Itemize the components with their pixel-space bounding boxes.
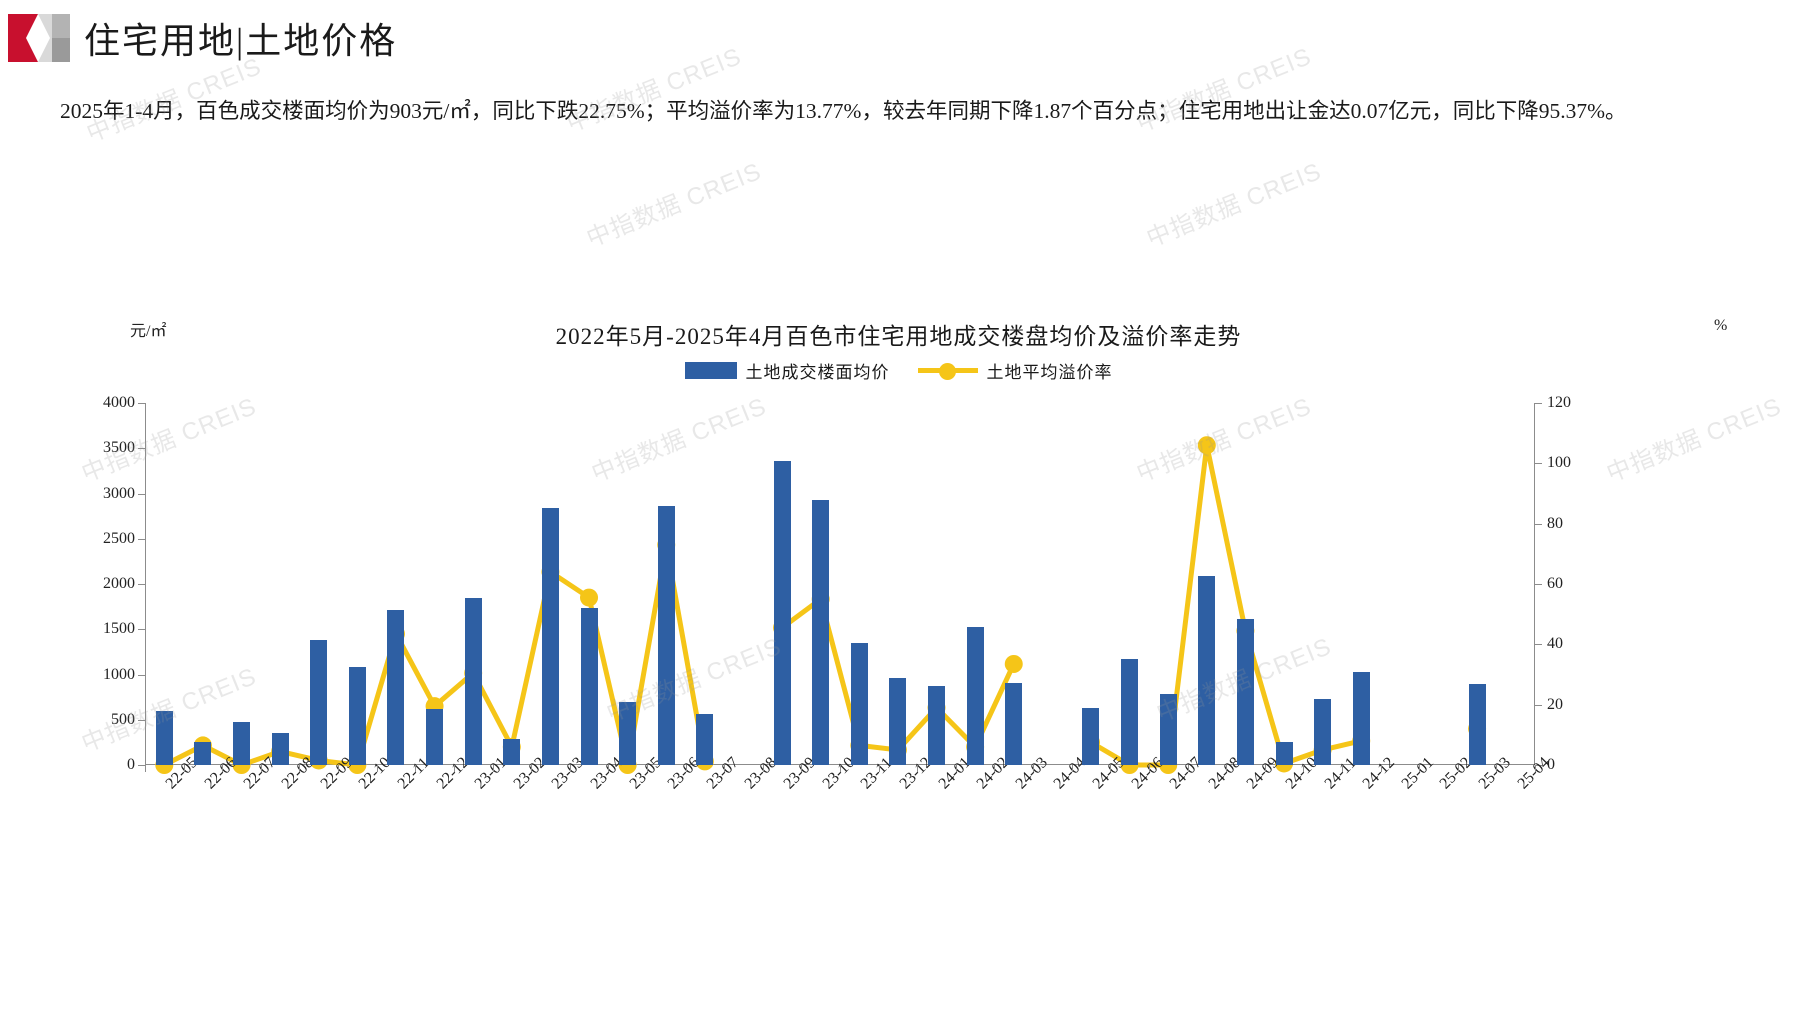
y2-axis-tick [1535, 524, 1542, 525]
bar[interactable] [349, 667, 366, 765]
y-axis-tick [138, 584, 145, 585]
y-axis-tick [138, 765, 145, 766]
legend-item-line[interactable]: 土地平均溢价率 [918, 358, 1113, 383]
x-axis-tick [415, 765, 416, 772]
watermark: 中指数据 CREIS [1140, 151, 1326, 253]
x-axis-tick [1535, 765, 1536, 772]
bar[interactable] [1005, 683, 1022, 765]
y2-axis-tick [1535, 403, 1542, 404]
y-axis-tick-label: 2500 [103, 530, 135, 548]
bar[interactable] [889, 678, 906, 765]
x-axis-tick [917, 765, 918, 772]
y-axis-tick-label: 4000 [103, 394, 135, 412]
line-marker[interactable] [1198, 436, 1216, 454]
bar[interactable] [1237, 619, 1254, 765]
y-axis-tick [138, 403, 145, 404]
watermark: 中指数据 CREIS [580, 151, 766, 253]
y2-axis-tick-label: 20 [1547, 696, 1563, 714]
x-axis-tick [1303, 765, 1304, 772]
x-axis-tick [493, 765, 494, 772]
bar[interactable] [465, 598, 482, 765]
y-axis-tick-label: 2000 [103, 575, 135, 593]
bar[interactable] [387, 610, 404, 765]
x-axis-tick [1226, 765, 1227, 772]
line-marker[interactable] [1005, 655, 1023, 673]
y-axis-tick [138, 448, 145, 449]
bar[interactable] [1314, 699, 1331, 765]
y-axis-tick-label: 1500 [103, 620, 135, 638]
y-axis-unit-label: 元/㎡ [130, 317, 166, 341]
line-marker[interactable] [580, 589, 598, 607]
x-axis-tick [299, 765, 300, 772]
x-axis-tick [1419, 765, 1420, 772]
bar[interactable] [812, 500, 829, 765]
x-axis-tick [801, 765, 802, 772]
x-axis-tick [1033, 765, 1034, 772]
y-axis-tick-label: 500 [111, 711, 135, 729]
page-title: 住宅用地|土地价格 [84, 12, 397, 64]
chart-title: 2022年5月-2025年4月百色市住宅用地成交楼盘均价及溢价率走势 [0, 317, 1797, 351]
bar[interactable] [696, 714, 713, 765]
x-axis-tick [145, 765, 146, 772]
y2-axis-tick-label: 120 [1547, 394, 1571, 412]
x-axis-tick [222, 765, 223, 772]
x-axis-tick [879, 765, 880, 772]
bar[interactable] [426, 709, 443, 765]
brand-logo-icon [8, 14, 70, 62]
legend-label-line: 土地平均溢价率 [987, 358, 1113, 383]
x-axis-tick [184, 765, 185, 772]
y-axis-tick [138, 539, 145, 540]
legend-item-bar[interactable]: 土地成交楼面均价 [685, 358, 890, 383]
y-axis-tick [138, 675, 145, 676]
x-axis-tick [956, 765, 957, 772]
x-axis-tick [724, 765, 725, 772]
y2-axis-tick-label: 80 [1547, 515, 1563, 533]
summary-text: 2025年1-4月，百色成交楼面均价为903元/㎡，同比下跌22.75%；平均溢… [60, 96, 1760, 127]
x-axis-tick [1265, 765, 1266, 772]
bar[interactable] [1469, 684, 1486, 765]
legend-bar-swatch [685, 362, 737, 379]
x-axis-tick [994, 765, 995, 772]
bar[interactable] [1198, 576, 1215, 765]
bar[interactable] [1121, 659, 1138, 765]
x-axis-tick [1496, 765, 1497, 772]
y-axis-tick-label: 0 [127, 756, 135, 774]
legend-label-bar: 土地成交楼面均价 [746, 358, 890, 383]
bar[interactable] [542, 508, 559, 765]
x-axis-tick [454, 765, 455, 772]
bar[interactable] [156, 711, 173, 765]
bar[interactable] [619, 702, 636, 765]
x-axis-tick [531, 765, 532, 772]
x-axis-tick [1110, 765, 1111, 772]
bar[interactable] [851, 643, 868, 765]
page-header: 住宅用地|土地价格 [0, 0, 1797, 78]
x-axis-tick [1458, 765, 1459, 772]
plot-area: 0500100015002000250030003500400002040608… [145, 403, 1535, 765]
legend-line-swatch [918, 361, 978, 379]
bar[interactable] [1276, 742, 1293, 765]
bar[interactable] [272, 733, 289, 765]
y2-axis-tick [1535, 644, 1542, 645]
y-axis-tick [138, 494, 145, 495]
x-axis-tick [1188, 765, 1189, 772]
y-axis-tick [138, 629, 145, 630]
chart-container: 2022年5月-2025年4月百色市住宅用地成交楼盘均价及溢价率走势 元/㎡ %… [0, 255, 1797, 895]
bar[interactable] [194, 742, 211, 765]
x-axis-tick [840, 765, 841, 772]
x-axis-tick [261, 765, 262, 772]
y2-axis-tick [1535, 584, 1542, 585]
y-axis-tick-label: 3500 [103, 439, 135, 457]
x-axis-tick [1342, 765, 1343, 772]
y2-axis-tick [1535, 705, 1542, 706]
y2-axis-unit-label: % [1714, 317, 1727, 335]
bar[interactable] [774, 461, 791, 765]
y2-axis-tick-label: 100 [1547, 454, 1571, 472]
bar[interactable] [503, 739, 520, 765]
y-axis-tick-label: 3000 [103, 485, 135, 503]
bar[interactable] [928, 686, 945, 765]
y2-axis-tick-label: 40 [1547, 635, 1563, 653]
bar[interactable] [658, 506, 675, 765]
y-axis-tick-label: 1000 [103, 666, 135, 684]
chart-legend: 土地成交楼面均价 土地平均溢价率 [0, 355, 1797, 385]
x-axis-tick [338, 765, 339, 772]
x-axis-tick [570, 765, 571, 772]
bar[interactable] [1082, 708, 1099, 765]
bar[interactable] [310, 640, 327, 765]
bar[interactable] [1353, 672, 1370, 765]
bar[interactable] [1160, 694, 1177, 765]
x-axis-tick [377, 765, 378, 772]
bar[interactable] [581, 608, 598, 765]
bar[interactable] [233, 722, 250, 765]
bar[interactable] [967, 627, 984, 765]
x-axis-tick [686, 765, 687, 772]
y-axis-tick [138, 720, 145, 721]
y2-axis-tick [1535, 463, 1542, 464]
x-axis-tick [608, 765, 609, 772]
x-axis-tick [763, 765, 764, 772]
x-axis-tick [1072, 765, 1073, 772]
x-axis-tick [647, 765, 648, 772]
x-axis-tick [1381, 765, 1382, 772]
y2-axis-tick-label: 60 [1547, 575, 1563, 593]
x-axis-tick [1149, 765, 1150, 772]
